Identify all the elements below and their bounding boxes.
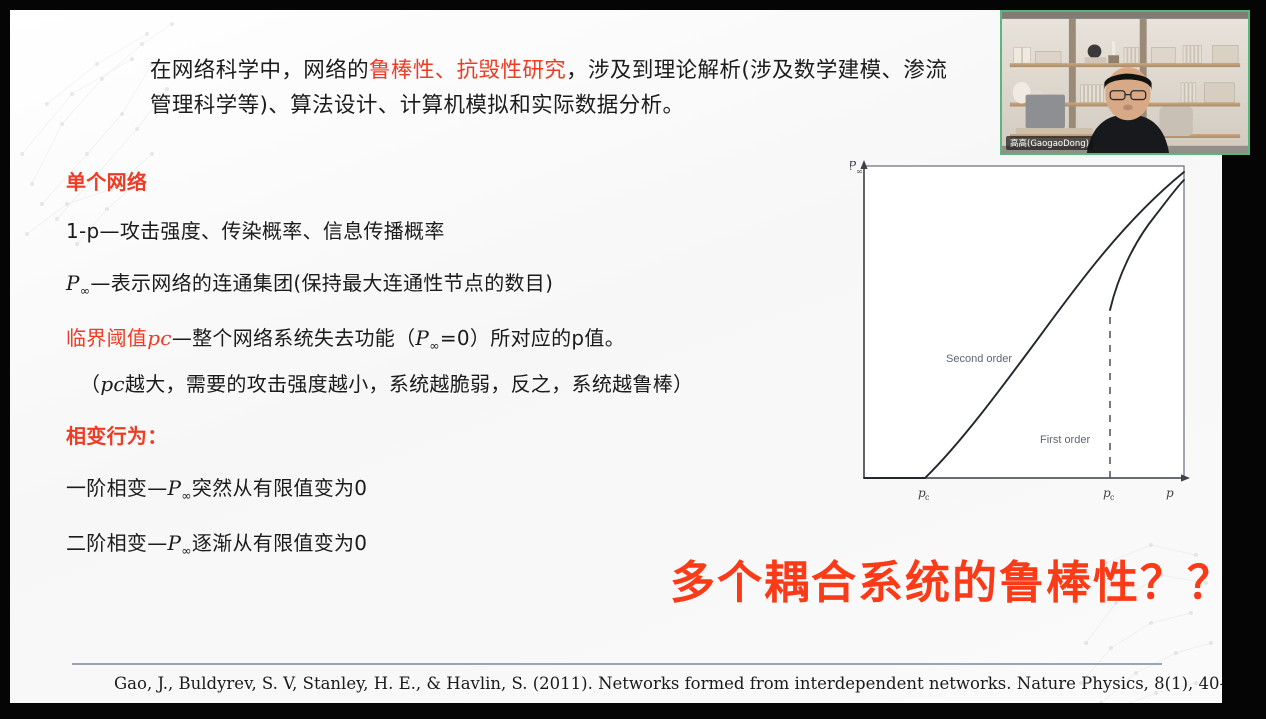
threshold-label-red: 临界阈值 [66, 326, 147, 350]
threshold-p-symbol: P [415, 326, 429, 350]
video-feed [1002, 12, 1248, 155]
second-order-pre: 二阶相变— [66, 531, 168, 555]
threshold-rest-b: =0）所对应的p值。 [440, 326, 625, 350]
section-heading-single-network: 单个网络 [66, 170, 856, 195]
threshold-p-subscript: ∞ [429, 338, 440, 353]
second-order-p-symbol: P [168, 531, 182, 555]
threshold-rest-a: —整个网络系统失去功能（ [172, 326, 416, 350]
x-axis-label: p [1166, 486, 1174, 500]
first-order-pre: 一阶相变— [66, 476, 168, 500]
citation-text: Gao, J., Buldyrev, S. V, Stanley, H. E.,… [114, 674, 1184, 693]
threshold-pc-italic: pc [147, 326, 172, 350]
header-line2: 管理科学等)、算法设计、计算机模拟和实际数据分析。 [150, 93, 684, 118]
first-order-post: 突然从有限值变为0 [192, 476, 367, 500]
header-line1-part-b: ，涉及到理论解析(涉及数学建模、渗流 [566, 58, 947, 83]
y-axis-label-subscript: ∞ [856, 167, 863, 176]
line-critical-threshold: 临界阈值pc—整个网络系统失去功能（P∞=0）所对应的p值。 [66, 326, 856, 354]
line-threshold-parenthetical: （pc越大，需要的攻击强度越小，系统越脆弱，反之，系统越鲁棒） [66, 372, 856, 397]
header-line1-highlight: 鲁棒性、抗毁性研究 [369, 58, 566, 83]
paren-open: （ [80, 372, 100, 396]
second-order-subscript: ∞ [181, 543, 192, 558]
p-definition-text: —表示网络的连通集团(保持最大连通性节点的数目) [90, 271, 553, 295]
slide-body-column: 单个网络 1-p—攻击强度、传染概率、信息传播概率 P∞—表示网络的连通集团(保… [66, 170, 856, 558]
slide-header-paragraph: 在网络科学中，网络的鲁棒性、抗毁性研究，涉及到理论解析(涉及数学建模、渗流 管理… [150, 54, 1030, 124]
section-heading-phase-behavior: 相变行为： [66, 424, 856, 449]
line-p-infinity-definition: P∞—表示网络的连通集团(保持最大连通性节点的数目) [66, 271, 856, 299]
annotation-first-order: First order [1040, 434, 1090, 446]
big-question-heading: 多个耦合系统的鲁棒性？？ [670, 546, 1222, 611]
screen: 在网络科学中，网络的鲁棒性、抗毁性研究，涉及到理论解析(涉及数学建模、渗流 管理… [0, 0, 1266, 719]
first-order-subscript: ∞ [181, 488, 192, 503]
participant-video-tile[interactable]: 高高(GaogaoDong) [1000, 10, 1250, 155]
first-order-p-symbol: P [168, 476, 182, 500]
second-order-post: 逐渐从有限值变为0 [192, 531, 367, 555]
header-line1-part-a: 在网络科学中，网络的 [150, 58, 369, 83]
citation-divider [72, 663, 1162, 665]
p-symbol: P [66, 271, 80, 295]
paren-rest: 越大，需要的攻击强度越小，系统越脆弱，反之，系统越鲁棒） [125, 372, 693, 396]
line-first-order-transition: 一阶相变—P∞突然从有限值变为0 [66, 476, 856, 504]
line-attack-strength: 1-p—攻击强度、传染概率、信息传播概率 [66, 219, 856, 244]
paren-pc-italic: pc [100, 372, 125, 396]
participant-name-badge: 高高(GaogaoDong) [1006, 136, 1093, 150]
x-tick-pc1-subscript: c [925, 493, 930, 502]
annotation-second-order: Second order [946, 353, 1012, 365]
phase-transition-figure: Second order First order P ∞ p c p c p [850, 158, 1196, 508]
p-subscript: ∞ [80, 283, 91, 298]
x-tick-pc2-subscript: c [1110, 493, 1115, 502]
